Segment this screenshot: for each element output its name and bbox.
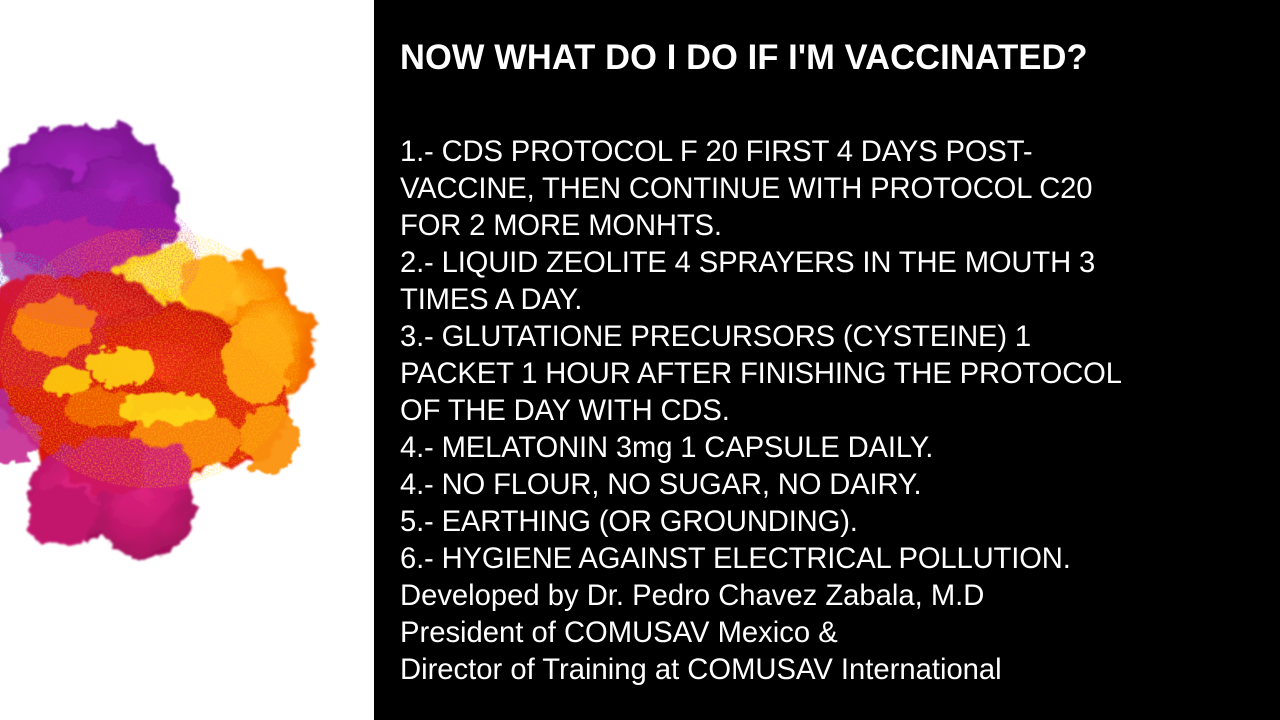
- slide-root: NOW WHAT DO I DO IF I'M VACCINATED? 1.- …: [0, 0, 1280, 720]
- protocol-line: 4.- NO FLOUR, NO SUGAR, NO DAIRY.: [400, 466, 1263, 503]
- attribution-line: President of COMUSAV Mexico &: [400, 614, 1263, 651]
- ink-splash-illustration: [0, 108, 370, 578]
- protocol-line: PACKET 1 HOUR AFTER FINISHING THE PROTOC…: [400, 355, 1263, 392]
- protocol-line: 4.- MELATONIN 3mg 1 CAPSULE DAILY.: [400, 429, 1263, 466]
- protocol-line: 6.- HYGIENE AGAINST ELECTRICAL POLLUTION…: [400, 540, 1263, 577]
- protocol-line: FOR 2 MORE MONHTS.: [400, 207, 1263, 244]
- page-title: NOW WHAT DO I DO IF I'M VACCINATED?: [400, 37, 1247, 79]
- protocol-line: TIMES A DAY.: [400, 281, 1263, 318]
- protocol-line: 2.- LIQUID ZEOLITE 4 SPRAYERS IN THE MOU…: [400, 244, 1263, 281]
- protocol-line: 5.- EARTHING (OR GROUNDING).: [400, 503, 1263, 540]
- image-panel: [0, 0, 374, 720]
- attribution-line: Director of Training at COMUSAV Internat…: [400, 651, 1263, 688]
- content-panel: NOW WHAT DO I DO IF I'M VACCINATED? 1.- …: [374, 0, 1280, 720]
- attribution-line: Developed by Dr. Pedro Chavez Zabala, M.…: [400, 577, 1263, 614]
- protocol-line: OF THE DAY WITH CDS.: [400, 392, 1263, 429]
- protocol-line: VACCINE, THEN CONTINUE WITH PROTOCOL C20: [400, 170, 1263, 207]
- protocol-line: 3.- GLUTATIONE PRECURSORS (CYSTEINE) 1: [400, 318, 1263, 355]
- protocol-list: 1.- CDS PROTOCOL F 20 FIRST 4 DAYS POST-…: [400, 133, 1272, 688]
- protocol-line: 1.- CDS PROTOCOL F 20 FIRST 4 DAYS POST-: [400, 133, 1263, 170]
